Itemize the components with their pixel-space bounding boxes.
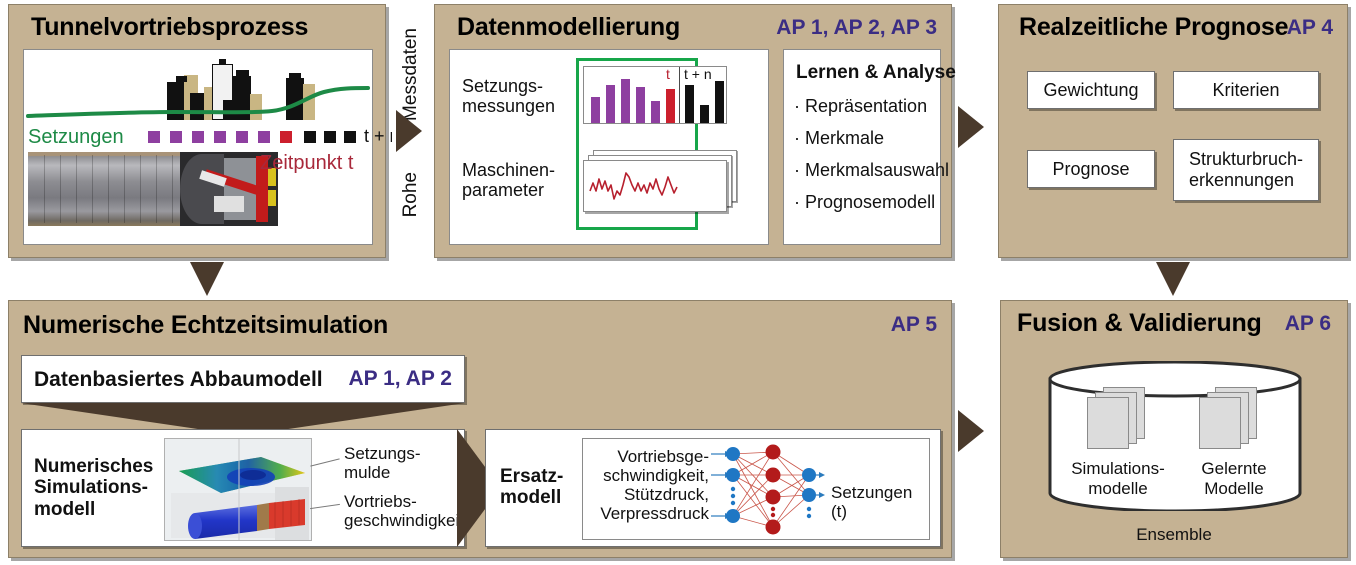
panel5-title: Numerische Echtzeitsimulation bbox=[23, 311, 388, 340]
bar-past bbox=[606, 85, 615, 123]
ensemble-caption: Ensemble bbox=[1001, 525, 1347, 545]
bar-past bbox=[621, 79, 630, 123]
nn-output-label: Setzungen (t) bbox=[831, 483, 929, 521]
box-kriterien[interactable]: Kriterien bbox=[1173, 71, 1319, 109]
panel2-title: Datenmodellierung bbox=[457, 13, 680, 42]
panel1-title: Tunnelvortriebsprozess bbox=[31, 13, 308, 42]
panel-numerische-echtzeitsimulation: Numerische Echtzeitsimulation AP 5 Daten… bbox=[8, 300, 952, 558]
settlement-curve-icon bbox=[24, 50, 372, 128]
box-strukturbrucherkennungen[interactable]: Strukturbruch- erkennungen bbox=[1173, 139, 1319, 201]
box-gewichtung[interactable]: Gewichtung bbox=[1027, 71, 1155, 109]
box-prognose[interactable]: Prognose bbox=[1027, 150, 1155, 188]
machine-param-signal-icon bbox=[588, 165, 698, 209]
panel-datenmodellierung: Datenmodellierung AP 1, AP 2, AP 3 Setzu… bbox=[434, 4, 952, 258]
box-kriterien-label: Kriterien bbox=[1174, 72, 1318, 108]
measurement-bar-chart: t t + n bbox=[583, 66, 727, 124]
callout-leader-2 bbox=[310, 504, 340, 509]
panel-tunnelvortriebsprozess: Tunnelvortriebsprozess Setzungen bbox=[8, 4, 386, 258]
abbaumodell-ap: AP 1, AP 2 bbox=[348, 367, 452, 391]
arrow-down-icon bbox=[1156, 262, 1190, 296]
ersatzmodell-label: Ersatz- modell bbox=[500, 466, 563, 509]
arrow-right-icon bbox=[396, 110, 422, 152]
panel5-ap-label: AP 5 bbox=[891, 313, 937, 337]
learning-item: · Repräsentation bbox=[794, 96, 927, 117]
panel6-title: Fusion & Validierung bbox=[1017, 309, 1262, 338]
nn-input-labels: Vortriebsge- schwindigkeit, Stützdruck, … bbox=[591, 447, 709, 523]
marker-purple bbox=[236, 131, 248, 143]
bar-current bbox=[666, 89, 675, 123]
box-ersatzmodell[interactable]: Ersatz- modell Vortriebsge- schwindigkei… bbox=[485, 429, 941, 547]
bar-tn-label: t + n bbox=[684, 66, 712, 82]
marker-black bbox=[344, 131, 356, 143]
panel2-ap-label: AP 1, AP 2, AP 3 bbox=[776, 16, 937, 40]
marker-purple bbox=[258, 131, 270, 143]
document-stack-icon bbox=[1195, 387, 1265, 447]
fem-settlement-trough-image bbox=[164, 438, 312, 541]
learning-heading: Lernen & Analyse bbox=[796, 62, 956, 84]
box-numerisches-simulationsmodell[interactable]: Numerisches Simulations- modell bbox=[21, 429, 465, 547]
bar-divider bbox=[679, 67, 680, 123]
abbaumodell-label: Datenbasiertes Abbaumodell bbox=[34, 368, 323, 392]
simulationsmodell-label: Numerisches Simulations- modell bbox=[34, 456, 153, 520]
callout-leader-1 bbox=[310, 458, 339, 466]
panel-fusion-validierung: Fusion & Validierung AP 6 Simulations- m… bbox=[1000, 300, 1348, 558]
bar-future bbox=[700, 105, 709, 123]
panel2-data-box: Setzungs- messungen Maschinen- parameter… bbox=[449, 49, 769, 245]
timepoint-label: Zeitpunkt t bbox=[260, 152, 353, 175]
box-gewichtung-label: Gewichtung bbox=[1028, 72, 1154, 108]
stack2-label: Gelernte Modelle bbox=[1179, 459, 1289, 498]
nn-diagram-box: Vortriebsge- schwindigkeit, Stützdruck, … bbox=[582, 438, 930, 540]
panel3-title: Realzeitliche Prognose bbox=[1019, 13, 1288, 42]
marker-purple bbox=[192, 131, 204, 143]
marker-black bbox=[324, 131, 336, 143]
machine-param-label: Maschinen- parameter bbox=[462, 160, 555, 200]
settlement-label: Setzungen bbox=[28, 126, 124, 149]
marker-purple bbox=[148, 131, 160, 143]
box-datenbasiertes-abbaumodell[interactable]: Datenbasiertes Abbaumodell AP 1, AP 2 bbox=[21, 355, 465, 403]
panel6-ap-label: AP 6 bbox=[1285, 312, 1331, 336]
learning-item: · Prognosemodell bbox=[794, 192, 935, 213]
marker-purple bbox=[170, 131, 182, 143]
arrow-down-icon bbox=[190, 262, 224, 296]
panel1-illustration-box: Setzungen t + n bbox=[23, 49, 373, 245]
measurement-label: Setzungs- messungen bbox=[462, 76, 555, 116]
callout-vortriebsgeschwindigkeit: Vortriebs- geschwindigkeit bbox=[344, 492, 464, 530]
panel2-learning-box: Lernen & Analyse · Repräsentation · Merk… bbox=[783, 49, 941, 245]
learning-item: · Merkmale bbox=[794, 128, 884, 149]
card-front bbox=[583, 160, 727, 212]
neural-network-icon bbox=[709, 443, 825, 537]
arrow-right-icon bbox=[958, 410, 984, 452]
connector1-line2: Messdaten bbox=[400, 28, 422, 121]
box-prognose-label: Prognose bbox=[1028, 151, 1154, 187]
connector-raw-measurement-data: Messdaten Rohe bbox=[392, 4, 430, 258]
arrow-right-icon bbox=[958, 106, 984, 148]
panel3-ap-label: AP 4 bbox=[1287, 16, 1333, 40]
bar-future bbox=[715, 81, 724, 123]
stack1-label: Simulations- modelle bbox=[1063, 459, 1173, 498]
bar-past bbox=[591, 97, 600, 123]
bar-t-label: t bbox=[666, 66, 670, 82]
bar-future bbox=[685, 85, 694, 123]
marker-red bbox=[280, 131, 292, 143]
connector1-line1: Rohe bbox=[400, 172, 422, 217]
learning-item: · Merkmalsauswahl bbox=[794, 160, 949, 181]
panel-realzeitliche-prognose: Realzeitliche Prognose AP 4 Gewichtung K… bbox=[998, 4, 1348, 258]
marker-black bbox=[304, 131, 316, 143]
document-stack-icon bbox=[1083, 387, 1153, 447]
database-cylinder-icon: Simulations- modelle Gelernte Modelle bbox=[1047, 361, 1303, 511]
marker-purple bbox=[214, 131, 226, 143]
tunnel-boring-machine-photo bbox=[28, 152, 278, 226]
bar-past bbox=[651, 101, 660, 123]
bar-past bbox=[636, 87, 645, 123]
callout-setzungsmulde: Setzungs- mulde bbox=[344, 444, 421, 482]
box-strukturbrucherkennungen-label: Strukturbruch- erkennungen bbox=[1174, 140, 1318, 200]
